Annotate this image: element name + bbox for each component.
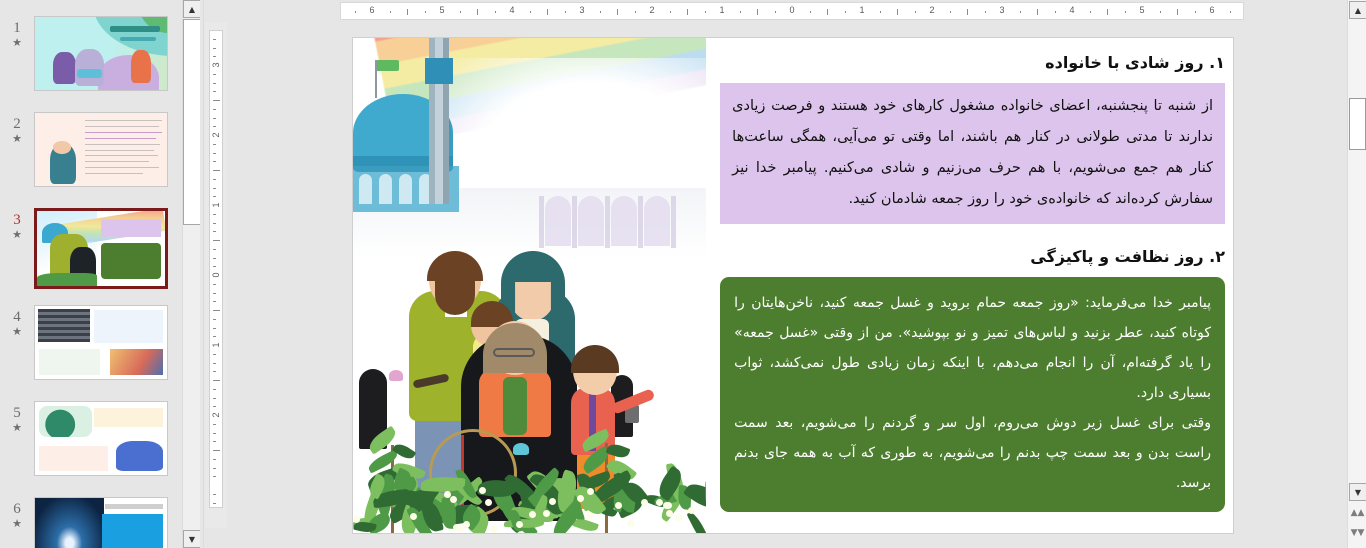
ruler-minor-tick [565, 11, 566, 13]
slide-preview-2[interactable] [34, 112, 168, 187]
vertical-ruler-minor-tick [213, 328, 216, 329]
slide-4-art [35, 306, 167, 379]
slide-6-art [35, 498, 167, 548]
vertical-ruler-minor-tick [213, 153, 216, 154]
slide-number-6: 6 [13, 501, 21, 517]
ruler-label: 5 [1139, 5, 1144, 15]
vertical-ruler-half-tick [213, 240, 220, 241]
vertical-ruler-minor-tick [213, 371, 216, 372]
slide-canvas-area[interactable]: ۱. روز شادی با خانواده از شنبه تا پنجشنب… [228, 20, 1338, 548]
flower-icon [516, 521, 523, 528]
ruler-minor-tick [1160, 11, 1161, 13]
purple-text-box[interactable]: از شنبه تا پنجشنبه، اعضای خانواده مشغول … [720, 83, 1225, 224]
slide-thumbnail-5[interactable]: 5 ★ [0, 401, 182, 476]
slide-thumbnail-3[interactable]: 3 ★ [0, 208, 182, 289]
ruler-label: 3 [579, 5, 584, 15]
vertical-ruler-minor-tick [213, 249, 216, 250]
ruler-minor-tick [635, 11, 636, 13]
thumbnail-panel-scrollbar[interactable]: ▲ ▼ [182, 0, 200, 548]
vertical-ruler-minor-tick [213, 459, 216, 460]
vertical-ruler: 321012 [205, 22, 227, 528]
slide-meta-5: 5 ★ [0, 401, 34, 435]
vertical-ruler-minor-tick [213, 293, 216, 294]
ruler-minor-tick [1055, 11, 1056, 13]
animation-star-icon: ★ [12, 36, 22, 50]
dome-arch-icon [379, 174, 392, 204]
vertical-ruler-minor-tick [213, 56, 216, 57]
leaf-icon [606, 441, 631, 461]
vertical-ruler-minor-tick [213, 223, 216, 224]
flower-icon [444, 491, 451, 498]
slide-preview-6[interactable] [34, 497, 168, 548]
vertical-ruler-minor-tick [213, 188, 216, 189]
vertical-ruler-half-tick [213, 450, 220, 451]
slide-2-art [35, 113, 167, 186]
slide-5-art [35, 402, 167, 475]
ruler-half-tick [617, 9, 618, 15]
dome-arch-icon [359, 174, 372, 204]
vertical-ruler-minor-tick [213, 319, 216, 320]
vertical-ruler-half-tick [213, 170, 220, 171]
flower-icon [656, 499, 663, 506]
vertical-ruler-minor-tick [213, 258, 216, 259]
vertical-ruler-minor-tick [213, 91, 216, 92]
animation-star-icon: ★ [12, 421, 22, 435]
vertical-ruler-minor-tick [213, 266, 216, 267]
vertical-ruler-label: 1 [211, 202, 221, 207]
flower-icon [485, 499, 492, 506]
ruler-minor-tick [1125, 11, 1126, 13]
thumbnail-scrollbar-thumb[interactable] [183, 19, 201, 225]
ruler-half-tick [757, 9, 758, 15]
flower-icon [453, 524, 460, 531]
vertical-ruler-minor-tick [213, 161, 216, 162]
foliage-group [353, 413, 706, 533]
slide-thumbnail-panel[interactable]: 1 ★ 2 ★ [0, 0, 182, 548]
mosque-arch-icon [578, 196, 604, 246]
ruler-label: 5 [439, 5, 444, 15]
slide-meta-2: 2 ★ [0, 112, 34, 146]
canvas-scroll-down-button[interactable]: ▼ [1349, 483, 1366, 501]
ruler-minor-tick [1020, 11, 1021, 13]
ruler-minor-tick [845, 11, 846, 13]
slide-meta-3: 3 ★ [0, 208, 34, 242]
double-down-arrow-icon: ▼▼ [1351, 530, 1365, 537]
mosque-arch-icon [611, 196, 637, 246]
vertical-ruler-minor-tick [213, 144, 216, 145]
ruler-minor-tick [950, 11, 951, 13]
vertical-ruler-minor-tick [213, 354, 216, 355]
ruler-half-tick [827, 9, 828, 15]
panel-divider[interactable] [200, 0, 204, 548]
vertical-ruler-half-tick [213, 100, 220, 101]
ruler-label: 1 [859, 5, 864, 15]
vertical-ruler-minor-tick [213, 441, 216, 442]
vertical-ruler-strip: 321012 [209, 30, 223, 508]
vertical-ruler-half-tick [213, 310, 220, 311]
vertical-ruler-minor-tick [213, 214, 216, 215]
minaret-cap [425, 58, 453, 84]
slide-number-2: 2 [13, 116, 21, 132]
thumbnail-scroll-down-button[interactable]: ▼ [183, 530, 201, 548]
vertical-ruler-half-tick [213, 380, 220, 381]
previous-slide-button[interactable]: ▲▲ [1349, 504, 1366, 523]
arch-post-icon [605, 196, 610, 248]
slide-meta-1: 1 ★ [0, 16, 34, 50]
arch-post-icon [539, 196, 544, 248]
vertical-ruler-minor-tick [213, 424, 216, 425]
ruler-minor-tick [740, 11, 741, 13]
presentation-editor-window: 1 ★ 2 ★ [0, 0, 1366, 548]
flower-icon [641, 499, 648, 506]
glasses-icon [493, 348, 535, 357]
vertical-ruler-label: 0 [211, 272, 221, 277]
section-heading-2[interactable]: ۲. روز نظافت و پاکیزگی [720, 246, 1225, 268]
ruler-label: 2 [649, 5, 654, 15]
mosque-arch-icon [644, 196, 670, 246]
slide-meta-6: 6 ★ [0, 497, 34, 531]
vertical-ruler-minor-tick [213, 398, 216, 399]
ruler-minor-tick [355, 11, 356, 13]
flower-icon [410, 513, 417, 520]
butterfly-icon [389, 370, 403, 381]
ruler-minor-tick [390, 11, 391, 13]
canvas-scrollbar-thumb[interactable] [1349, 98, 1366, 150]
flower-icon [675, 514, 682, 521]
ruler-minor-tick [705, 11, 706, 13]
ruler-label: 2 [929, 5, 934, 15]
ruler-minor-tick [670, 11, 671, 13]
vertical-ruler-minor-tick [213, 179, 216, 180]
ruler-half-tick [687, 9, 688, 15]
ruler-minor-tick [530, 11, 531, 13]
animation-star-icon: ★ [12, 325, 22, 339]
ruler-minor-tick [1230, 11, 1231, 13]
vertical-ruler-minor-tick [213, 503, 216, 504]
slide-thumbnail-1[interactable]: 1 ★ [0, 16, 182, 91]
ruler-half-tick [897, 9, 898, 15]
flower-icon [490, 526, 497, 533]
vertical-ruler-minor-tick [213, 196, 216, 197]
flower-icon [688, 507, 695, 514]
ruler-minor-tick [880, 11, 881, 13]
vertical-ruler-minor-tick [213, 406, 216, 407]
slide-preview-3[interactable] [34, 208, 168, 289]
vertical-ruler-minor-tick [213, 494, 216, 495]
vertical-ruler-minor-tick [213, 109, 216, 110]
ruler-minor-tick [425, 11, 426, 13]
green-paragraph-a: پیامبر خدا می‌فرماید: «روز جمعه حمام برو… [734, 288, 1211, 408]
ruler-label: 0 [789, 5, 794, 15]
vertical-ruler-label: 3 [211, 62, 221, 67]
slide-1-art [35, 17, 167, 90]
ruler-minor-tick [460, 11, 461, 13]
slide-preview-5[interactable] [34, 401, 168, 476]
ruler-minor-tick [600, 11, 601, 13]
slide-thumbnail-2[interactable]: 2 ★ [0, 112, 182, 187]
slide-number-5: 5 [13, 405, 21, 421]
flower-icon [549, 498, 556, 505]
double-up-arrow-icon: ▲▲ [1351, 510, 1365, 517]
ruler-minor-tick [775, 11, 776, 13]
ruler-label: 3 [999, 5, 1004, 15]
ruler-minor-tick [985, 11, 986, 13]
section-heading-1[interactable]: ۱. روز شادی با خانواده [720, 52, 1225, 74]
ruler-minor-tick [1090, 11, 1091, 13]
ruler-half-tick [1177, 9, 1178, 15]
slide-3-art [37, 211, 165, 286]
ruler-minor-tick [495, 11, 496, 13]
slide-number-1: 1 [13, 20, 21, 36]
vertical-ruler-minor-tick [213, 231, 216, 232]
vertical-ruler-label: 2 [211, 132, 221, 137]
vertical-ruler-minor-tick [213, 468, 216, 469]
flower-icon [543, 510, 550, 517]
current-slide[interactable]: ۱. روز شادی با خانواده از شنبه تا پنجشنب… [352, 37, 1234, 534]
slide-text-column: ۱. روز شادی با خانواده از شنبه تا پنجشنب… [706, 38, 1233, 533]
slide-illustration[interactable] [353, 38, 706, 533]
ruler-half-tick [1107, 9, 1108, 15]
thumbnail-scroll-up-button[interactable]: ▲ [183, 0, 201, 18]
ruler-half-tick [407, 9, 408, 15]
arch-post-icon [638, 196, 643, 248]
ruler-label: 1 [719, 5, 724, 15]
slide-preview-1[interactable] [34, 16, 168, 91]
ruler-minor-tick [810, 11, 811, 13]
next-slide-button[interactable]: ▼▼ [1349, 524, 1366, 543]
vertical-ruler-minor-tick [213, 301, 216, 302]
ruler-half-tick [477, 9, 478, 15]
animation-star-icon: ★ [12, 517, 22, 531]
vertical-ruler-minor-tick [213, 389, 216, 390]
animation-star-icon: ★ [12, 132, 22, 146]
canvas-scroll-up-button[interactable]: ▲ [1349, 1, 1366, 19]
slide-thumbnail-6[interactable]: 6 ★ [0, 497, 182, 548]
vertical-ruler-minor-tick [213, 74, 216, 75]
slide-number-4: 4 [13, 309, 21, 325]
vertical-ruler-minor-tick [213, 83, 216, 84]
slide-preview-4[interactable] [34, 305, 168, 380]
green-flag-icon [377, 60, 399, 71]
vertical-ruler-minor-tick [213, 476, 216, 477]
arch-post-icon [572, 196, 577, 248]
animation-star-icon: ★ [12, 228, 22, 242]
flower-icon [666, 510, 673, 517]
ruler-half-tick [1037, 9, 1038, 15]
vertical-ruler-minor-tick [213, 284, 216, 285]
vertical-ruler-minor-tick [213, 336, 216, 337]
vertical-ruler-minor-tick [213, 39, 216, 40]
ruler-label: 6 [369, 5, 374, 15]
vertical-ruler-label: 1 [211, 342, 221, 347]
slide-number-3: 3 [13, 212, 21, 228]
ruler-minor-tick [915, 11, 916, 13]
green-text-box[interactable]: پیامبر خدا می‌فرماید: «روز جمعه حمام برو… [720, 277, 1225, 512]
vertical-ruler-minor-tick [213, 433, 216, 434]
canvas-scrollbar[interactable]: ▲ ▼ ▲▲ ▼▼ [1347, 0, 1366, 548]
ruler-minor-tick [1195, 11, 1196, 13]
ruler-half-tick [967, 9, 968, 15]
dome-arch-icon [399, 174, 412, 204]
vertical-ruler-label: 2 [211, 412, 221, 417]
vertical-ruler-minor-tick [213, 48, 216, 49]
slide-meta-4: 4 ★ [0, 305, 34, 339]
flower-icon [627, 520, 634, 527]
leaf-icon [392, 441, 417, 463]
ruler-label: 6 [1209, 5, 1214, 15]
arch-post-icon [671, 196, 676, 248]
flower-icon [586, 512, 593, 519]
ruler-label: 4 [1069, 5, 1074, 15]
flower-icon [577, 495, 584, 502]
horizontal-ruler: 0123456123456 [340, 2, 1244, 20]
vertical-ruler-minor-tick [213, 363, 216, 364]
vertical-ruler-minor-tick [213, 126, 216, 127]
ruler-half-tick [547, 9, 548, 15]
slide-thumbnail-4[interactable]: 4 ★ [0, 305, 182, 380]
vertical-ruler-minor-tick [213, 118, 216, 119]
green-paragraph-b: وقتی برای غسل زیر دوش می‌روم، اول سر و گ… [734, 408, 1211, 498]
ruler-label: 4 [509, 5, 514, 15]
mosque-arch-icon [545, 196, 571, 246]
